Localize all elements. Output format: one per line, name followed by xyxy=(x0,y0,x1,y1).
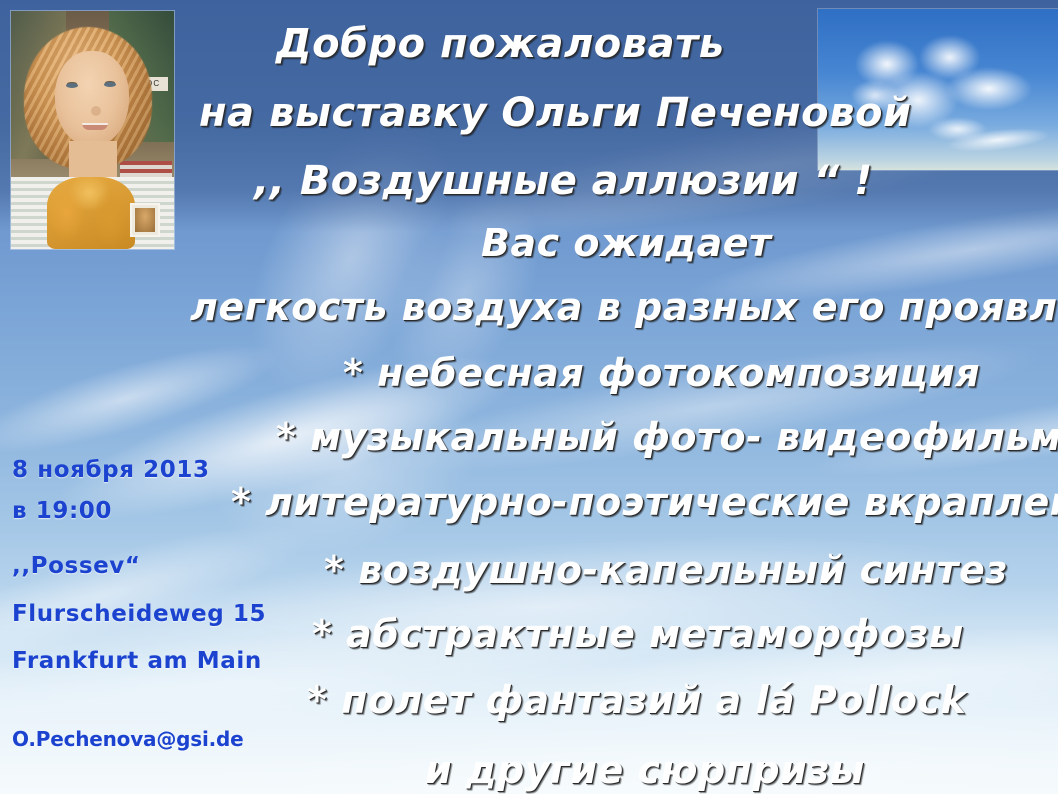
body-line-7: * абстрактные метаморфозы xyxy=(312,612,964,656)
portrait-neck xyxy=(69,141,117,181)
portrait-inset-thumbnail xyxy=(130,203,160,237)
headline-line-1: Добро пожаловать xyxy=(276,21,725,67)
body-line-5: * литературно-поэтические вкрапления xyxy=(231,480,1058,524)
portrait-mouth xyxy=(82,123,108,130)
portrait-eye-right xyxy=(104,82,116,87)
portrait-eye-left xyxy=(66,83,78,88)
portrait-nose xyxy=(91,106,101,116)
portrait-face xyxy=(55,51,129,147)
poster-canvas: ITED C Добро пожаловатьна выставку Ольги… xyxy=(0,0,1058,794)
body-line-1: Вас ожидает xyxy=(481,221,772,265)
headline-line-3: ,, Воздушные аллюзии “ ! xyxy=(254,158,873,204)
body-line-3: * небесная фотокомпозиция xyxy=(343,351,980,395)
body-line-6: * воздушно-капельный синтез xyxy=(324,548,1008,592)
headline-line-2: на выставку Ольги Печеновой xyxy=(199,90,911,136)
portrait-orange-scarf xyxy=(47,177,135,249)
body-line-9: и другие сюрпризы xyxy=(425,748,865,792)
artist-portrait-photo: ITED C xyxy=(11,11,174,249)
body-line-4: * музыкальный фото- видеофильм xyxy=(276,415,1058,459)
body-line-2: легкость воздуха в разных его проявления… xyxy=(190,285,1058,329)
body-line-8: * полет фантазий a lá Pollock xyxy=(307,678,966,722)
